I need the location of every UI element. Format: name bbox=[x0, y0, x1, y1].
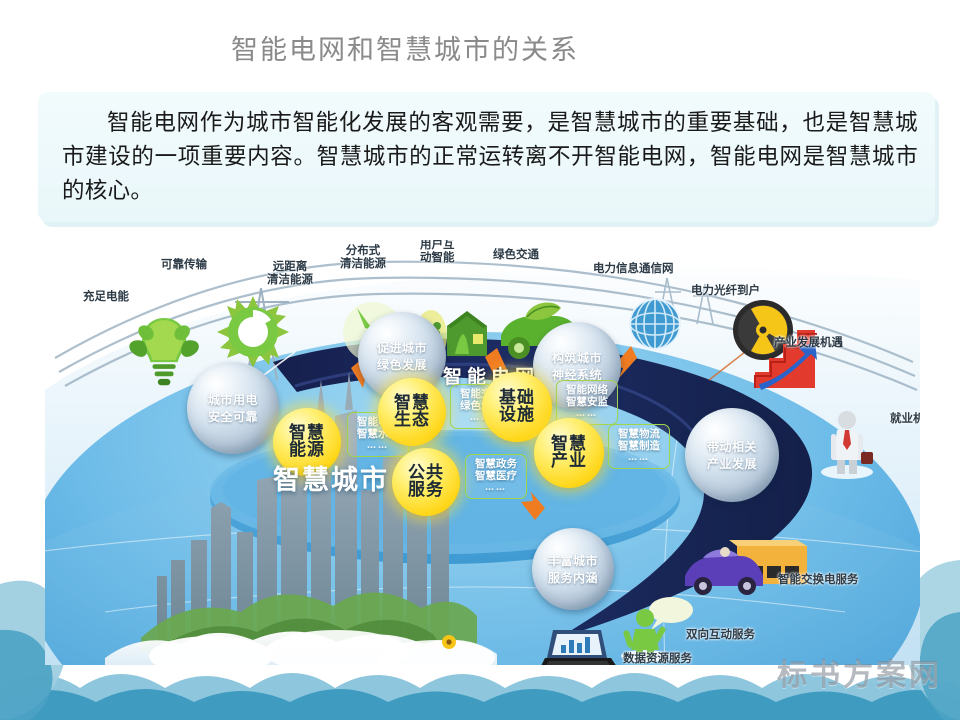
body-text-card: 智能电网作为城市智能化发展的客观需要，是智慧城市的重要基础，也是智慧城市建设的一… bbox=[38, 92, 935, 222]
label-industry-dev-opportunity: 产业发展机遇 bbox=[774, 336, 843, 349]
sphere-urban-power-safe-reliable[interactable]: 城市用电安全可靠 bbox=[187, 362, 279, 454]
label-green-transport: 绿色交通 bbox=[493, 248, 539, 261]
smart-city-platform-label: 智慧城市 bbox=[273, 458, 389, 497]
bubble-smart-ecology[interactable]: 智慧生态 bbox=[378, 378, 446, 446]
sphere-promote-green-label: 促进城市绿色发展 bbox=[377, 339, 427, 373]
sphere-drive-industries-label: 带动相关产业发展 bbox=[707, 438, 757, 472]
label-employment-opportunity: 就业机会 bbox=[890, 412, 920, 425]
slide-root: 智能电网和智慧城市的关系 智能电网作为城市智能化发展的客观需要，是智慧城市的重要… bbox=[0, 0, 960, 720]
label-sufficient-power: 充足电能 bbox=[83, 290, 129, 303]
bubble-smart-energy-label: 智慧能源 bbox=[289, 425, 325, 460]
label-user-interactive-smart: 用户互动智能 bbox=[420, 240, 455, 264]
page-title: 智能电网和智慧城市的关系 bbox=[0, 28, 960, 67]
label-smart-power-exchange-service: 智能交换电服务 bbox=[778, 573, 859, 586]
sphere-drive-related-industries[interactable]: 带动相关产业发展 bbox=[685, 408, 779, 502]
bubble-smart-industry-label: 智慧产业 bbox=[551, 436, 587, 471]
bubble-public-service[interactable]: 公共服务 bbox=[392, 448, 460, 516]
tagbox-smart-industry: 智慧物流智慧制造…… bbox=[608, 424, 670, 469]
sphere-enrich-services-label: 丰富城市服务内涵 bbox=[548, 552, 598, 586]
label-distributed-clean-energy: 分布式清洁能源 bbox=[340, 244, 386, 270]
bubble-smart-industry[interactable]: 智慧产业 bbox=[534, 418, 604, 488]
bubble-infrastructure-label: 基础设施 bbox=[499, 390, 535, 425]
label-long-distance-clean-energy: 远距离清洁能源 bbox=[267, 260, 313, 286]
sphere-enrich-city-services[interactable]: 丰富城市服务内涵 bbox=[532, 528, 614, 610]
label-two-way-interactive-service: 双向互动服务 bbox=[686, 628, 755, 641]
label-power-fiber-to-home: 电力光纤到户 bbox=[691, 284, 760, 297]
infographic-artwork bbox=[45, 240, 920, 665]
label-data-resource-service: 数据资源服务 bbox=[623, 652, 692, 665]
infographic-image: 充足电能 可靠传输 远距离清洁能源 分布式清洁能源 用户互动智能 绿色交通 电力… bbox=[45, 240, 920, 665]
bubble-smart-ecology-label: 智慧生态 bbox=[394, 395, 430, 430]
sphere-nervous-system-label: 构筑城市神经系统 bbox=[552, 349, 602, 383]
sphere-urban-power-label: 城市用电安全可靠 bbox=[208, 391, 258, 425]
label-power-info-comm-network: 电力信息通信网 bbox=[593, 262, 674, 275]
label-reliable-transmission: 可靠传输 bbox=[161, 258, 207, 271]
body-text: 智能电网作为城市智能化发展的客观需要，是智慧城市的重要基础，也是智慧城市建设的一… bbox=[62, 106, 918, 208]
bubble-public-service-label: 公共服务 bbox=[408, 465, 444, 500]
tagbox-public-service: 智慧政务智慧医疗…… bbox=[465, 454, 527, 499]
